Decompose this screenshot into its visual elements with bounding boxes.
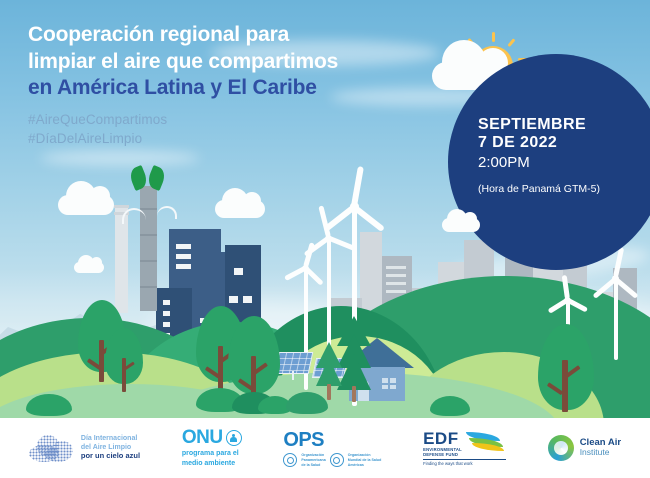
edf-subtitle-1: ENVIRONMENTAL — [423, 447, 462, 452]
window — [163, 322, 170, 327]
cloud — [58, 195, 114, 215]
tree-trunk — [562, 360, 568, 412]
logo-onu-medio-ambiente: ONU programa para el medio ambiente — [182, 427, 242, 469]
oms-seal-icon — [330, 453, 344, 467]
headline-line-3: en América Latina y El Caribe — [28, 75, 428, 102]
oms-seal-line-3: Américas — [348, 463, 382, 468]
onu-globe-icon — [226, 430, 242, 446]
cloud — [215, 200, 265, 218]
tree-trunk — [218, 346, 223, 392]
logo-line-3: por un cielo azul — [81, 452, 140, 461]
edf-subtitle-2: DEFENSE FUND — [423, 452, 462, 457]
window — [234, 268, 243, 275]
tree-trunk — [352, 386, 356, 402]
edf-wordmark: EDF — [423, 430, 462, 447]
turbine-blade — [351, 166, 364, 206]
date-month: SEPTIEMBRE — [478, 116, 648, 134]
tree-trunk — [327, 384, 331, 400]
date-day: 7 DE 2022 — [478, 134, 648, 152]
window — [176, 244, 191, 249]
pine-tree — [316, 358, 342, 386]
tree-trunk — [122, 358, 126, 392]
window — [163, 311, 170, 316]
headline-line-1: Cooperación regional para — [28, 22, 428, 49]
ops-seal-line-3: de la Salud — [301, 463, 325, 468]
logo-ops-oms: OPS Organización Panamericana de la Salu… — [283, 429, 381, 468]
tree-trunk — [99, 340, 104, 382]
cloud — [442, 218, 480, 232]
date-badge: SEPTIEMBRE 7 DE 2022 2:00PM (Hora de Pan… — [478, 116, 648, 195]
onu-subtitle-1: programa para el — [182, 450, 242, 459]
ops-seal-icon — [283, 453, 297, 467]
edf-tagline: Finding the ways that work — [423, 459, 506, 466]
onu-wordmark: ONU — [182, 427, 223, 449]
date-time: 2:00PM — [478, 153, 648, 173]
window-row — [386, 290, 406, 293]
logo-line-1: Día Internacional — [81, 435, 140, 443]
window — [163, 300, 170, 305]
turbine-blade — [352, 205, 385, 233]
wind-turbine-tower — [614, 278, 618, 360]
headline: Cooperación regional para limpiar el air… — [28, 22, 428, 102]
ops-seal-line-2: Panamericana — [301, 458, 325, 463]
cloud — [74, 262, 104, 273]
hashtag-dia-del-aire-limpio: #DíaDelAireLimpio — [28, 129, 167, 148]
date-timezone: (Hora de Panamá GTM-5) — [478, 183, 648, 195]
logo-edf: EDF ENVIRONMENTAL DEFENSE FUND Finding t… — [423, 430, 506, 467]
sponsor-logo-bar: Día Internacional del Aire Limpio por un… — [0, 418, 650, 478]
window — [229, 296, 238, 303]
edf-leaves-icon — [464, 430, 506, 452]
pine-tree — [337, 354, 371, 390]
solar-panel-leg — [292, 371, 294, 380]
ops-wordmark: OPS — [283, 429, 381, 453]
poster: SEPTIEMBRE 7 DE 2022 2:00PM (Hora de Pan… — [0, 0, 650, 478]
clean-air-line-2: Institute — [580, 448, 621, 458]
window-row — [386, 274, 406, 277]
window — [243, 296, 252, 303]
window-mullion — [382, 383, 396, 385]
clean-air-swirl-icon — [548, 435, 574, 461]
smokestack-grey — [140, 186, 157, 311]
window — [176, 254, 191, 259]
hashtag-group: #AireQueCompartimos #DíaDelAireLimpio — [28, 110, 167, 148]
dotted-cloud-icon — [29, 433, 75, 463]
logo-dia-internacional-del-aire-limpio: Día Internacional del Aire Limpio por un… — [29, 433, 140, 463]
headline-line-2: limpiar el aire que compartimos — [28, 49, 428, 76]
hashtag-aire-que-compartimos: #AireQueCompartimos — [28, 110, 167, 129]
sun-ray — [492, 32, 495, 42]
onu-subtitle-2: medio ambiente — [182, 460, 242, 469]
window-row — [386, 282, 406, 285]
window-row — [386, 266, 406, 269]
oms-seal-line-2: Mundial de la Salud — [348, 458, 382, 463]
logo-clean-air-institute: Clean Air Institute — [548, 435, 621, 461]
window — [176, 264, 191, 269]
pipe — [157, 206, 177, 219]
